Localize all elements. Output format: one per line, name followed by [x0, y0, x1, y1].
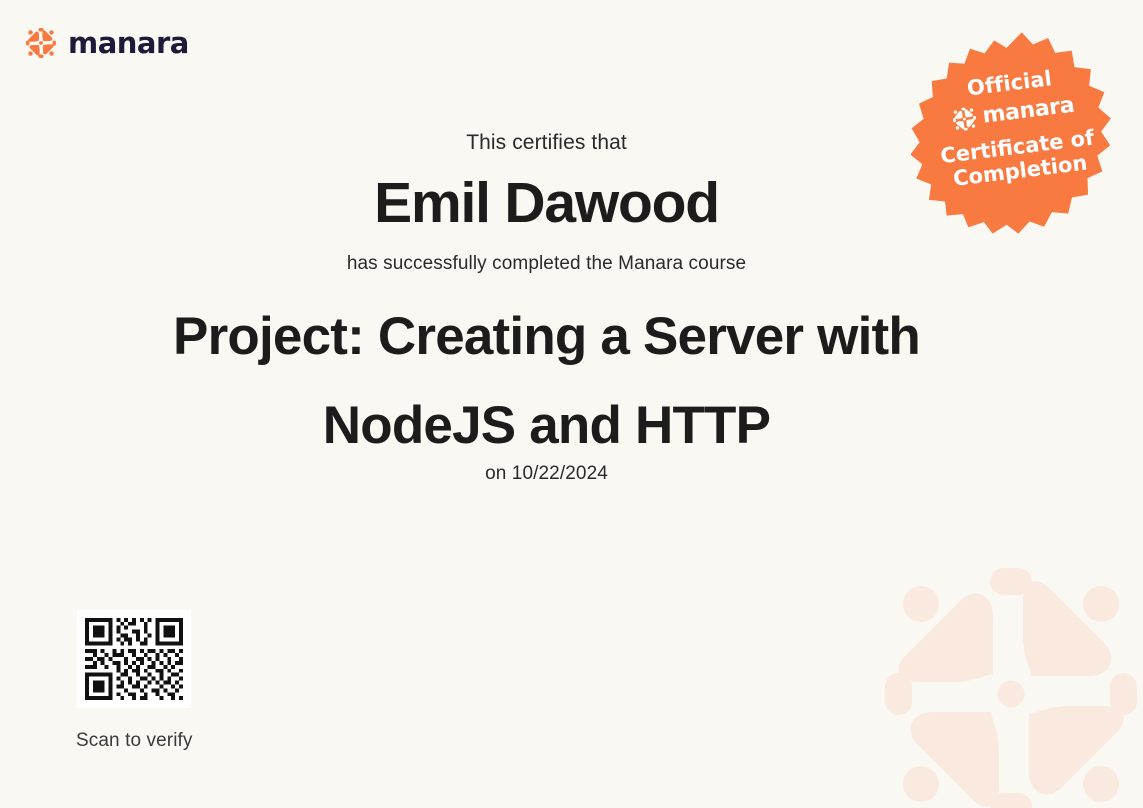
- course-title: Project: Creating a Server with NodeJS a…: [0, 292, 1093, 470]
- verification-block: Scan to verify: [77, 610, 193, 752]
- manara-star-icon: [24, 26, 58, 60]
- scan-to-verify-label: Scan to verify: [76, 730, 193, 752]
- brand-wordmark: manara: [68, 29, 189, 58]
- manara-star-watermark-icon: [861, 544, 1143, 808]
- badge-official-label: Official: [966, 69, 1053, 100]
- manara-star-icon-badge: [950, 105, 979, 134]
- certifies-text: This certifies that: [0, 131, 1093, 155]
- completion-date: on 10/22/2024: [0, 463, 1093, 485]
- badge-wordmark: manara: [981, 95, 1075, 128]
- certificate-page: manara Official: [0, 0, 1143, 808]
- completed-text: has successfully completed the Manara co…: [0, 253, 1093, 275]
- recipient-name: Emil Dawood: [0, 172, 1093, 235]
- brand-logo: manara: [24, 26, 189, 60]
- qr-code-icon[interactable]: [77, 610, 191, 708]
